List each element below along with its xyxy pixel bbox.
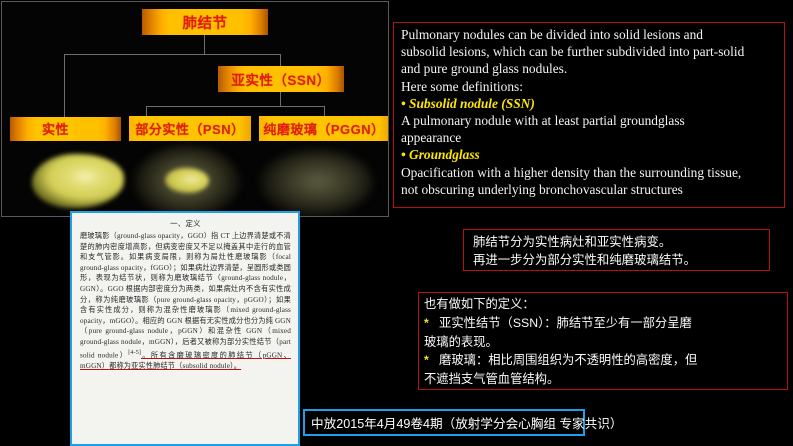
connector-ssn-stem [280,92,281,106]
connector-root-stem [204,35,205,54]
nodule-classification-diagram: 肺结节 亚实性（SSN） 实性 部分实性（PSN） 纯磨玻璃（PGGN） [1,1,389,217]
scanned-document-excerpt: 一、定义 磨玻璃影（ground-glass opacity，GGO）指 CT … [70,211,300,446]
solid-nodule-image [32,154,124,208]
english-line: Pulmonary nodules can be divided into so… [401,26,779,43]
asterisk-bullet-icon: * [424,316,429,330]
citation-text: 中放2015年4月49卷4期（放射学分会心胸组 专家共识） [311,413,622,432]
summary-line: 再进一步分为部分实性和纯磨玻璃结节。 [473,251,769,269]
scan-superscript-reference: [4-5] [128,350,141,356]
diagram-node-label: 亚实性（SSN） [231,69,330,89]
english-line: not obscuring underlying bronchovascular… [401,181,779,198]
definition-item-continuation: 不遮挡支气管血管结构。 [424,370,787,389]
diagram-node-lung-nodule[interactable]: 肺结节 [142,9,268,35]
scan-paragraph: 磨玻璃影（ground-glass opacity，GGO）指 CT 上边界清楚… [80,231,291,371]
diagram-node-label: 肺结节 [183,12,228,33]
part-solid-nodule-core [165,168,209,193]
definitions-intro: 也有做如下的定义： [424,295,787,314]
diagram-node-label: 纯磨玻璃（PGGN） [263,119,384,138]
definition-item-text: 磨玻璃：相比周围组织为不透明性的高密度，但 [439,353,697,367]
diagram-node-part-solid[interactable]: 部分实性（PSN） [129,116,251,141]
english-line: A pulmonary nodule with at least partial… [401,112,779,129]
slide-canvas: 肺结节 亚实性（SSN） 实性 部分实性（PSN） 纯磨玻璃（PGGN） Pul… [0,0,793,446]
diagram-node-label: 实性 [36,118,75,140]
diagram-node-solid[interactable]: 实性 [10,117,121,141]
english-line: and pure ground glass nodules. [401,60,779,77]
definition-item: * 磨玻璃：相比周围组织为不透明性的高密度，但 [424,351,787,370]
diagram-node-subsolid[interactable]: 亚实性（SSN） [218,66,344,92]
english-definition-box: Pulmonary nodules can be divided into so… [393,22,785,208]
summary-line: 肺结节分为实性病灶和亚实性病变。 [473,233,769,251]
english-line: appearance [401,129,779,146]
connector-level2-horizontal [146,106,325,107]
english-line: Opacification with a higher density than… [401,164,779,181]
definition-item-text: 亚实性结节（SSN）：肺结节至少有一部分呈磨 [439,316,692,330]
alternate-definitions-box: 也有做如下的定义： * 亚实性结节（SSN）：肺结节至少有一部分呈磨 玻璃的表现… [418,292,788,390]
citation-box: 中放2015年4月49卷4期（放射学分会心胸组 专家共识） [303,409,585,436]
asterisk-bullet-icon: * [424,353,429,367]
english-line: Here some definitions: [401,78,779,95]
scan-paragraph-body: 磨玻璃影（ground-glass opacity，GGO）指 CT 上边界清楚… [80,232,291,359]
definition-item-continuation: 玻璃的表现。 [424,333,787,352]
pure-ground-glass-nodule-image [260,150,372,216]
english-line-emphasis: • Subsolid nodule (SSN) [401,95,779,112]
summary-box: 肺结节分为实性病灶和亚实性病变。 再进一步分为部分实性和纯磨玻璃结节。 [463,229,770,271]
definition-item: * 亚实性结节（SSN）：肺结节至少有一部分呈磨 [424,314,787,333]
english-line: subsolid lesions, which can be further s… [401,43,779,60]
connector-to-ssn [280,54,281,66]
diagram-node-pure-ground-glass[interactable]: 纯磨玻璃（PGGN） [259,116,389,141]
english-line-emphasis: • Groundglass [401,146,779,163]
diagram-node-label: 部分实性（PSN） [135,119,244,138]
scan-heading: 一、定义 [80,218,291,229]
connector-to-solid [64,54,65,117]
connector-level1-horizontal [64,54,281,55]
